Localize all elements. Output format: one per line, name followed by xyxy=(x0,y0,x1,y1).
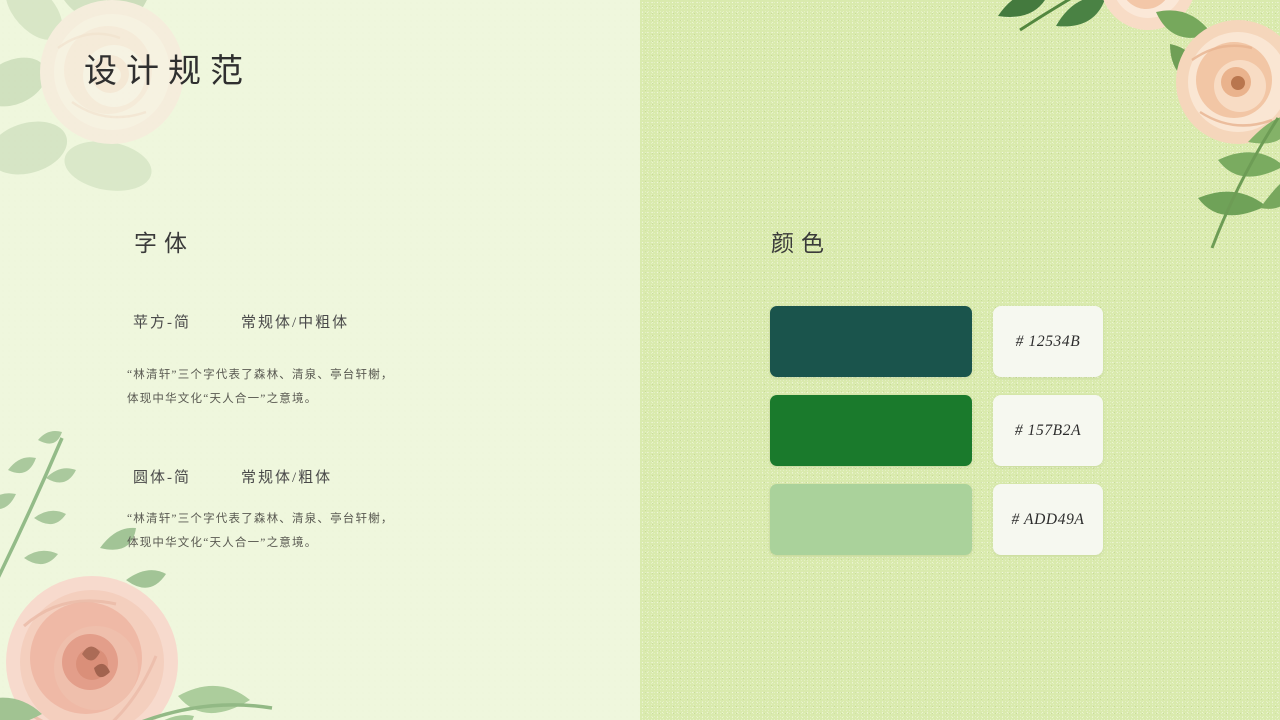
color-swatch-1 xyxy=(770,306,972,377)
font-sample-text-2: “林清轩”三个字代表了森林、清泉、亭台轩榭， 体现中华文化“天人合一”之意境。 xyxy=(127,508,487,555)
color-hex-label-2: # 157B2A xyxy=(1015,422,1081,440)
color-palette-row: # ADD49A xyxy=(770,484,1103,555)
color-hex-card-1: # 12534B xyxy=(993,306,1103,377)
color-hex-card-2: # 157B2A xyxy=(993,395,1103,466)
font-weights-2: 常规体/粗体 xyxy=(241,466,332,487)
typography-section-heading: 字体 xyxy=(134,224,194,258)
font-family-name-1: 苹方-简 xyxy=(133,311,241,332)
color-swatch-3 xyxy=(770,484,972,555)
font-family-name-2: 圆体-简 xyxy=(133,466,241,487)
page-title: 设计规范 xyxy=(84,44,252,92)
color-swatch-2 xyxy=(770,395,972,466)
font-sample-text-1: “林清轩”三个字代表了森林、清泉、亭台轩榭， 体现中华文化“天人合一”之意境。 xyxy=(127,364,487,411)
font-weights-1: 常规体/中粗体 xyxy=(241,311,349,332)
font-entry-row-1: 苹方-简 常规体/中粗体 xyxy=(133,311,349,332)
color-hex-label-1: # 12534B xyxy=(1016,333,1081,351)
design-spec-slide: 设计规范 字体 苹方-简 常规体/中粗体 “林清轩”三个字代表了森林、清泉、亭台… xyxy=(0,0,1280,720)
color-palette: # 12534B # 157B2A # ADD49A xyxy=(770,306,1103,555)
color-palette-row: # 12534B xyxy=(770,306,1103,377)
left-panel-background xyxy=(0,0,640,720)
color-palette-row: # 157B2A xyxy=(770,395,1103,466)
font-entry-row-2: 圆体-简 常规体/粗体 xyxy=(133,466,332,487)
color-hex-card-3: # ADD49A xyxy=(993,484,1103,555)
color-section-heading: 颜色 xyxy=(771,224,831,258)
color-hex-label-3: # ADD49A xyxy=(1012,511,1085,529)
